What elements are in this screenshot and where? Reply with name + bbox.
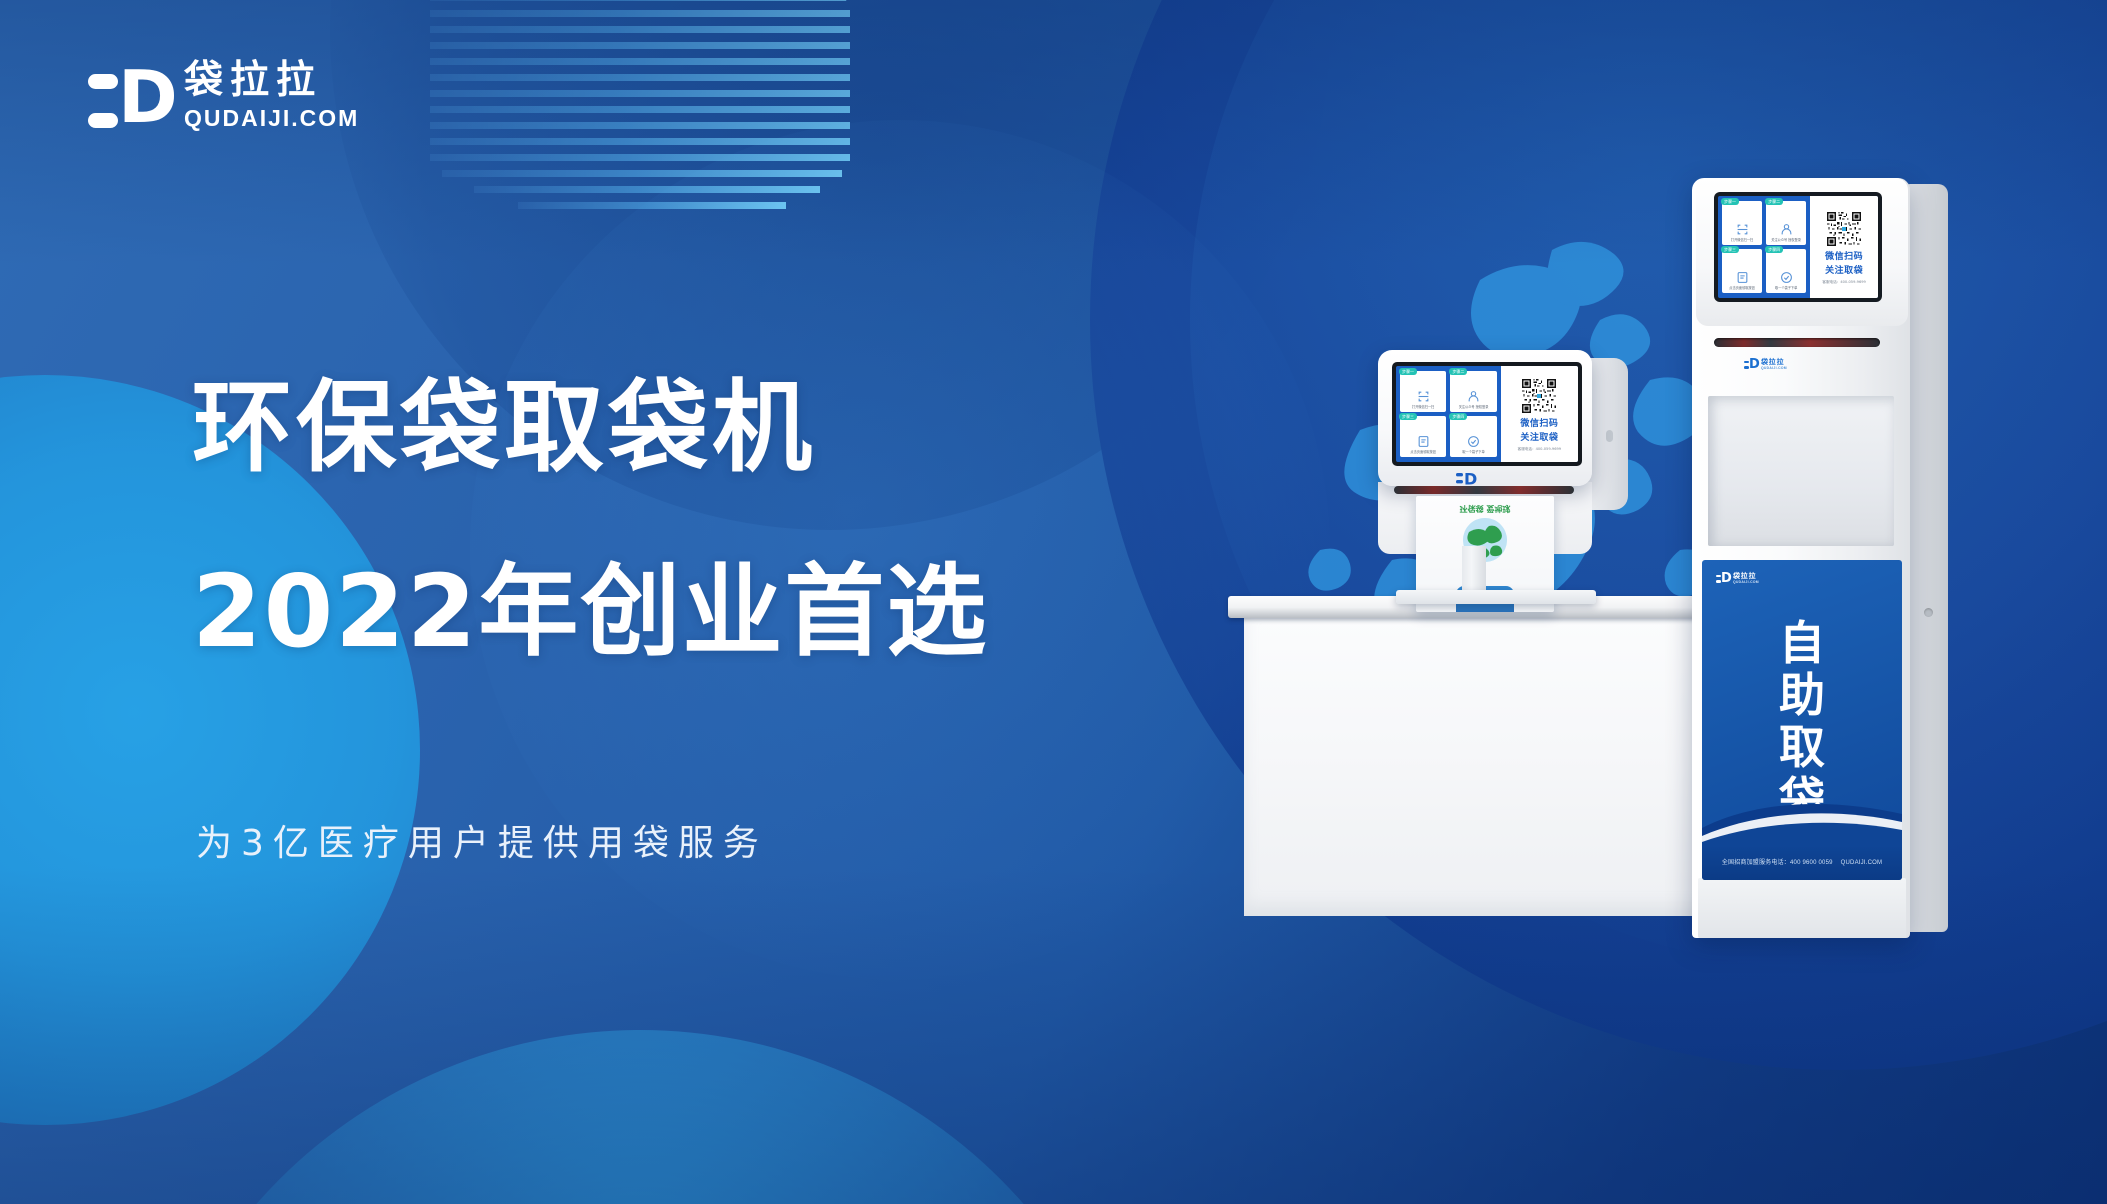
step-tag: 步骤一	[1721, 198, 1739, 205]
panel-footer-site: QUDAIJI.COM	[1841, 859, 1883, 867]
kiosk-body-logo: D 袋拉拉 QUDAIJI.COM	[1744, 358, 1787, 371]
step-card[interactable]: 步骤四 取一个袋子下单	[1766, 249, 1806, 293]
receive-icon	[1736, 271, 1749, 284]
step-caption: 取一个袋子下单	[1462, 450, 1484, 454]
countertop-base-plate	[1396, 590, 1596, 604]
hotline-text: 客服电话：400-059-9699	[1822, 280, 1865, 285]
scan-qr-icon	[1736, 223, 1749, 236]
panel-logo-en: QUDAIJI.COM	[1733, 580, 1759, 584]
brand-name-cn: 袋拉拉	[184, 60, 359, 102]
kiosk-front-panel: D 袋拉拉 QUDAIJI.COM 自 助 取 袋 机	[1702, 560, 1902, 880]
wechat-qr-code-icon	[1824, 209, 1864, 249]
check-icon	[1780, 271, 1793, 284]
bag-slogan: 环保袋 爱地球	[1416, 503, 1554, 513]
hotline-text: 客服电话：400-059-9699	[1518, 447, 1561, 452]
kiosk-logo-cn: 袋拉拉	[1761, 358, 1787, 366]
panel-title-char: 自	[1779, 618, 1825, 668]
screen-steps-grid: 步骤一 打开微信扫一扫 步骤二 关注公众号 授权登录 步骤三 点击	[1718, 196, 1810, 298]
kiosk-display[interactable]: 步骤一 打开微信扫一扫 步骤二 关注公众号 授权登录 步骤三 点击	[1714, 192, 1882, 302]
kiosk-logo-en: QUDAIJI.COM	[1761, 366, 1787, 370]
step-card[interactable]: 步骤一 打开微信扫一扫	[1722, 201, 1762, 245]
kiosk-side-housing	[1906, 184, 1948, 932]
step-caption: 点击页面领取按钮	[1729, 286, 1755, 290]
step-card[interactable]: 步骤二 关注公众号 授权登录	[1450, 371, 1496, 412]
headline-line-2: 2022年创业首选	[192, 556, 1252, 668]
qr-title-line-1: 微信扫码	[1520, 419, 1558, 430]
self-service-bag-kiosk[interactable]: 步骤一 打开微信扫一扫 步骤二 关注公众号 授权登录 步骤三 点击	[1692, 178, 1952, 938]
panel-logo-cn: 袋拉拉	[1733, 572, 1759, 580]
kiosk-pickup-alcove	[1708, 396, 1894, 546]
colon-d-icon: D	[1744, 358, 1757, 371]
countertop-display[interactable]: 步骤一 打开微信扫一扫 步骤二 关注公众号 授权登录 步骤三 点击	[1392, 362, 1582, 466]
kiosk-dispense-slot	[1714, 338, 1880, 347]
step-caption: 打开微信扫一扫	[1731, 238, 1753, 242]
hero-headline: 环保袋取袋机 2022年创业首选	[192, 372, 1252, 668]
step-card[interactable]: 步骤二 关注公众号 授权登录	[1766, 201, 1806, 245]
panel-title-char: 助	[1779, 670, 1825, 720]
step-card[interactable]: 步骤一 打开微信扫一扫	[1400, 371, 1446, 412]
receive-icon	[1417, 435, 1430, 448]
step-tag: 步骤二	[1765, 198, 1783, 205]
kiosk-head: 步骤一 打开微信扫一扫 步骤二 关注公众号 授权登录 步骤三 点击	[1696, 178, 1908, 326]
step-tag: 步骤四	[1449, 413, 1467, 420]
screen-qr-panel: 微信扫码 关注取袋 客服电话：400-059-9699	[1501, 366, 1578, 462]
countertop-dispense-slot	[1394, 486, 1574, 494]
panel-wave-graphic	[1702, 788, 1902, 846]
panel-footer-text: 全国招商加盟服务电话：400 9600 0059	[1722, 859, 1833, 867]
check-icon	[1467, 435, 1480, 448]
screen-steps-grid: 步骤一 打开微信扫一扫 步骤二 关注公众号 授权登录 步骤三 点击	[1396, 366, 1501, 462]
colon-d-icon: D	[1456, 470, 1500, 486]
qr-title-line-1: 微信扫码	[1825, 252, 1863, 263]
colon-d-icon: D	[1716, 572, 1729, 585]
step-card[interactable]: 步骤三 点击页面领取按钮	[1400, 416, 1446, 457]
step-caption: 关注公众号 授权登录	[1459, 405, 1489, 409]
headline-line-1: 环保袋取袋机	[192, 372, 1252, 484]
counter-front-panel	[1244, 618, 1757, 916]
step-tag: 步骤四	[1765, 246, 1783, 253]
step-caption: 打开微信扫一扫	[1412, 405, 1434, 409]
step-card[interactable]: 步骤四 取一个袋子下单	[1450, 416, 1496, 457]
screen-qr-panel: 微信扫码 关注取袋 客服电话：400-059-9699	[1810, 196, 1878, 298]
step-tag: 步骤三	[1399, 413, 1417, 420]
step-tag: 步骤一	[1399, 368, 1417, 375]
brand-logo[interactable]: D 袋拉拉 QUDAIJI.COM	[88, 58, 359, 134]
scan-qr-icon	[1417, 390, 1430, 403]
step-caption: 取一个袋子下单	[1775, 286, 1797, 290]
colon-d-icon: D	[88, 58, 162, 134]
step-caption: 关注公众号 授权登录	[1771, 238, 1801, 242]
kiosk-base	[1698, 878, 1906, 938]
panel-footer: 全国招商加盟服务电话：400 9600 0059 QUDAIJI.COM	[1702, 846, 1902, 880]
svg-text:D: D	[1464, 470, 1477, 486]
panel-title-char: 取	[1779, 722, 1825, 772]
countertop-side-button[interactable]	[1606, 430, 1613, 442]
hero-banner: D 袋拉拉 QUDAIJI.COM 环保袋取袋机 2022年创业首选 为3亿医疗…	[0, 0, 2107, 1204]
follow-icon	[1780, 223, 1793, 236]
step-caption: 点击页面领取按钮	[1410, 450, 1436, 454]
kiosk-side-button[interactable]	[1924, 608, 1933, 617]
follow-icon	[1467, 390, 1480, 403]
brand-domain: QUDAIJI.COM	[184, 106, 359, 130]
step-card[interactable]: 步骤三 点击页面领取按钮	[1722, 249, 1762, 293]
wechat-qr-code-icon	[1519, 376, 1559, 416]
kiosk-panel-logo: D 袋拉拉 QUDAIJI.COM	[1716, 572, 1759, 585]
step-tag: 步骤二	[1449, 368, 1467, 375]
qr-title-line-2: 关注取袋	[1825, 266, 1863, 277]
qr-title-line-2: 关注取袋	[1520, 433, 1558, 444]
step-tag: 步骤三	[1721, 246, 1739, 253]
hero-subtitle: 为3亿医疗用户提供用袋服务	[196, 822, 768, 866]
countertop-head-housing: 步骤一 打开微信扫一扫 步骤二 关注公众号 授权登录 步骤三 点击	[1378, 350, 1592, 486]
countertop-bag-dispenser[interactable]: 步骤一 打开微信扫一扫 步骤二 关注公众号 授权登录 步骤三 点击	[1374, 350, 1640, 612]
